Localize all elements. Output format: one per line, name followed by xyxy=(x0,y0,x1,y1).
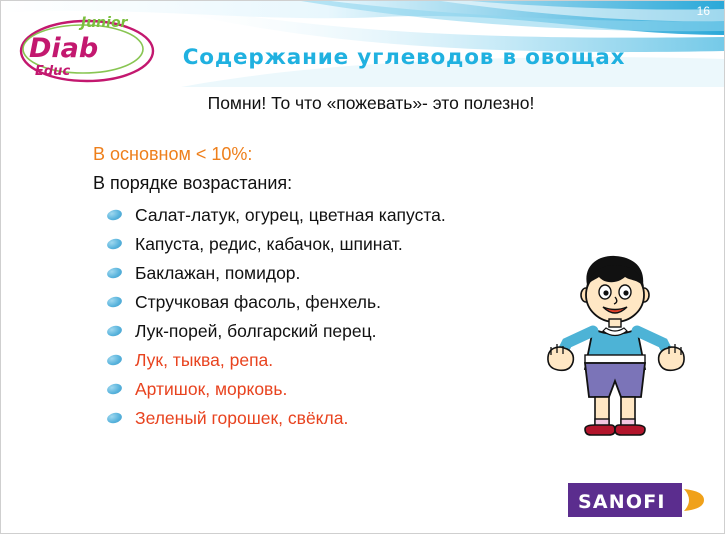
list-item-label: Стручковая фасоль, фенхель. xyxy=(135,292,381,313)
ellipse-bullet-icon xyxy=(106,353,123,366)
ellipse-bullet-icon xyxy=(106,324,123,337)
happy-boy-illustration xyxy=(541,251,691,456)
list-item-label: Салат-латук, огурец, цветная капуста. xyxy=(135,205,446,226)
lead-line-1: В основном < 10%: xyxy=(93,144,252,165)
list-item-label: Капуста, редис, кабачок, шпинат. xyxy=(135,234,403,255)
sanofi-logo: SANOFI xyxy=(568,479,708,521)
ellipse-bullet-icon xyxy=(106,208,123,221)
list-item: Лук-порей, болгарский перец. xyxy=(105,317,535,346)
list-item: Капуста, редис, кабачок, шпинат. xyxy=(105,230,535,259)
list-item-label: Артишок, морковь. xyxy=(135,379,287,400)
svg-text:Diab: Diab xyxy=(29,33,98,64)
lead-line-2: В порядке возрастания: xyxy=(93,173,292,194)
svg-text:Educ: Educ xyxy=(35,64,70,79)
list-item: Стручковая фасоль, фенхель. xyxy=(105,288,535,317)
diabeduc-logo: Diab Educ Junior xyxy=(17,13,167,85)
ellipse-bullet-icon xyxy=(106,382,123,395)
ellipse-bullet-icon xyxy=(106,266,123,279)
list-item: Баклажан, помидор. xyxy=(105,259,535,288)
list-item: Салат-латук, огурец, цветная капуста. xyxy=(105,201,535,230)
slide: 16 Diab Educ Junior Содержание углеводов… xyxy=(0,0,725,534)
list-item: Артишок, морковь. xyxy=(105,375,535,404)
list-item-label: Лук-порей, болгарский перец. xyxy=(135,321,377,342)
page-number: 16 xyxy=(697,4,710,18)
ellipse-bullet-icon xyxy=(106,237,123,250)
list-item-label: Лук, тыква, репа. xyxy=(135,350,273,371)
list-item-label: Баклажан, помидор. xyxy=(135,263,300,284)
subtitle: Помни! То что «пожевать»- это полезно! xyxy=(91,93,651,114)
svg-text:Junior: Junior xyxy=(78,15,129,31)
sanofi-wordmark: SANOFI xyxy=(578,491,666,513)
ellipse-bullet-icon xyxy=(106,295,123,308)
list-item: Зеленый горошек, свёкла. xyxy=(105,404,535,433)
ellipse-bullet-icon xyxy=(106,411,123,424)
page-title: Содержание углеводов в овощах xyxy=(169,45,639,70)
list-item-label: Зеленый горошек, свёкла. xyxy=(135,408,348,429)
list-item: Лук, тыква, репа. xyxy=(105,346,535,375)
bullet-list: Салат-латук, огурец, цветная капуста. Ка… xyxy=(105,201,535,433)
